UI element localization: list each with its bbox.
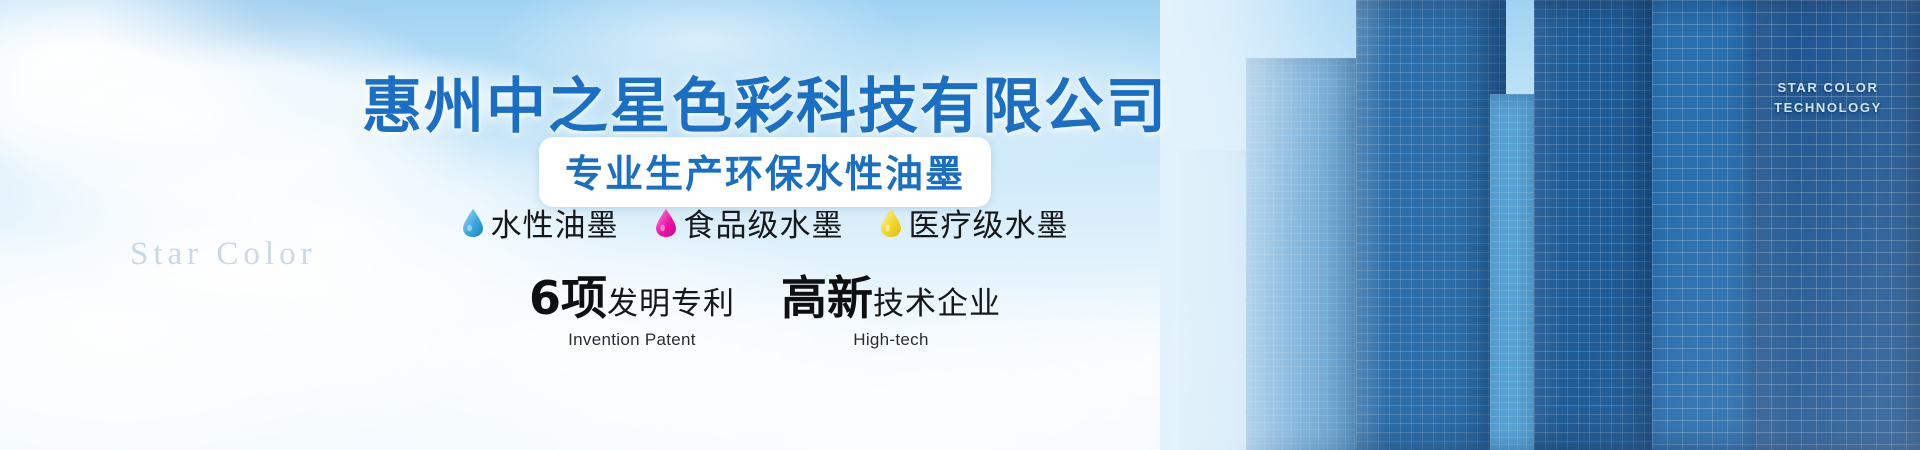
badge-english-label: High-tech — [781, 330, 1001, 350]
badge-subtext: 技术企业 — [873, 286, 1001, 322]
badge-high-tech: 高新技术企业 High-tech — [781, 262, 1001, 350]
slogan-pill-wrap: 专业生产环保水性油墨 — [0, 137, 1530, 207]
feature-list: 水性油墨 食品级水墨 — [0, 200, 1530, 245]
slogan-pill: 专业生产环保水性油墨 — [539, 137, 991, 207]
water-drop-icon — [880, 208, 902, 238]
badge-english-label: Invention Patent — [529, 330, 735, 350]
promo-banner: Star Color STAR COLOR TECHNOLOGY 惠州中之星色彩… — [0, 0, 1920, 450]
building-5 — [1534, 0, 1666, 450]
feature-label: 食品级水墨 — [684, 200, 844, 245]
feature-item-medical-grade-ink: 医疗级水墨 — [880, 200, 1069, 245]
water-drop-icon — [655, 208, 677, 238]
feature-item-food-grade-ink: 食品级水墨 — [655, 200, 844, 245]
banner-content: 惠州中之星色彩科技有限公司 专业生产环保水性油墨 水性油 — [0, 0, 1530, 450]
badge-line: 6项发明专利 — [529, 262, 735, 328]
badge-list: 6项发明专利 Invention Patent 高新技术企业 High-tech — [0, 262, 1530, 350]
building-brand-line-1: STAR COLOR — [1778, 80, 1879, 95]
badge-headline: 高新 — [781, 271, 873, 325]
feature-label: 水性油墨 — [491, 200, 619, 245]
badge-headline: 6项 — [529, 271, 607, 325]
building-brand-mark: STAR COLOR TECHNOLOGY — [1748, 78, 1908, 118]
building-7 — [1756, 0, 1920, 450]
badge-invention-patent: 6项发明专利 Invention Patent — [529, 262, 735, 350]
water-drop-icon — [462, 208, 484, 238]
badge-subtext: 发明专利 — [607, 286, 735, 322]
feature-label: 医疗级水墨 — [909, 200, 1069, 245]
building-6 — [1652, 0, 1770, 450]
feature-item-water-based-ink: 水性油墨 — [462, 200, 619, 245]
badge-line: 高新技术企业 — [781, 262, 1001, 328]
company-title: 惠州中之星色彩科技有限公司 — [0, 58, 1530, 145]
building-brand-line-2: TECHNOLOGY — [1774, 100, 1882, 115]
